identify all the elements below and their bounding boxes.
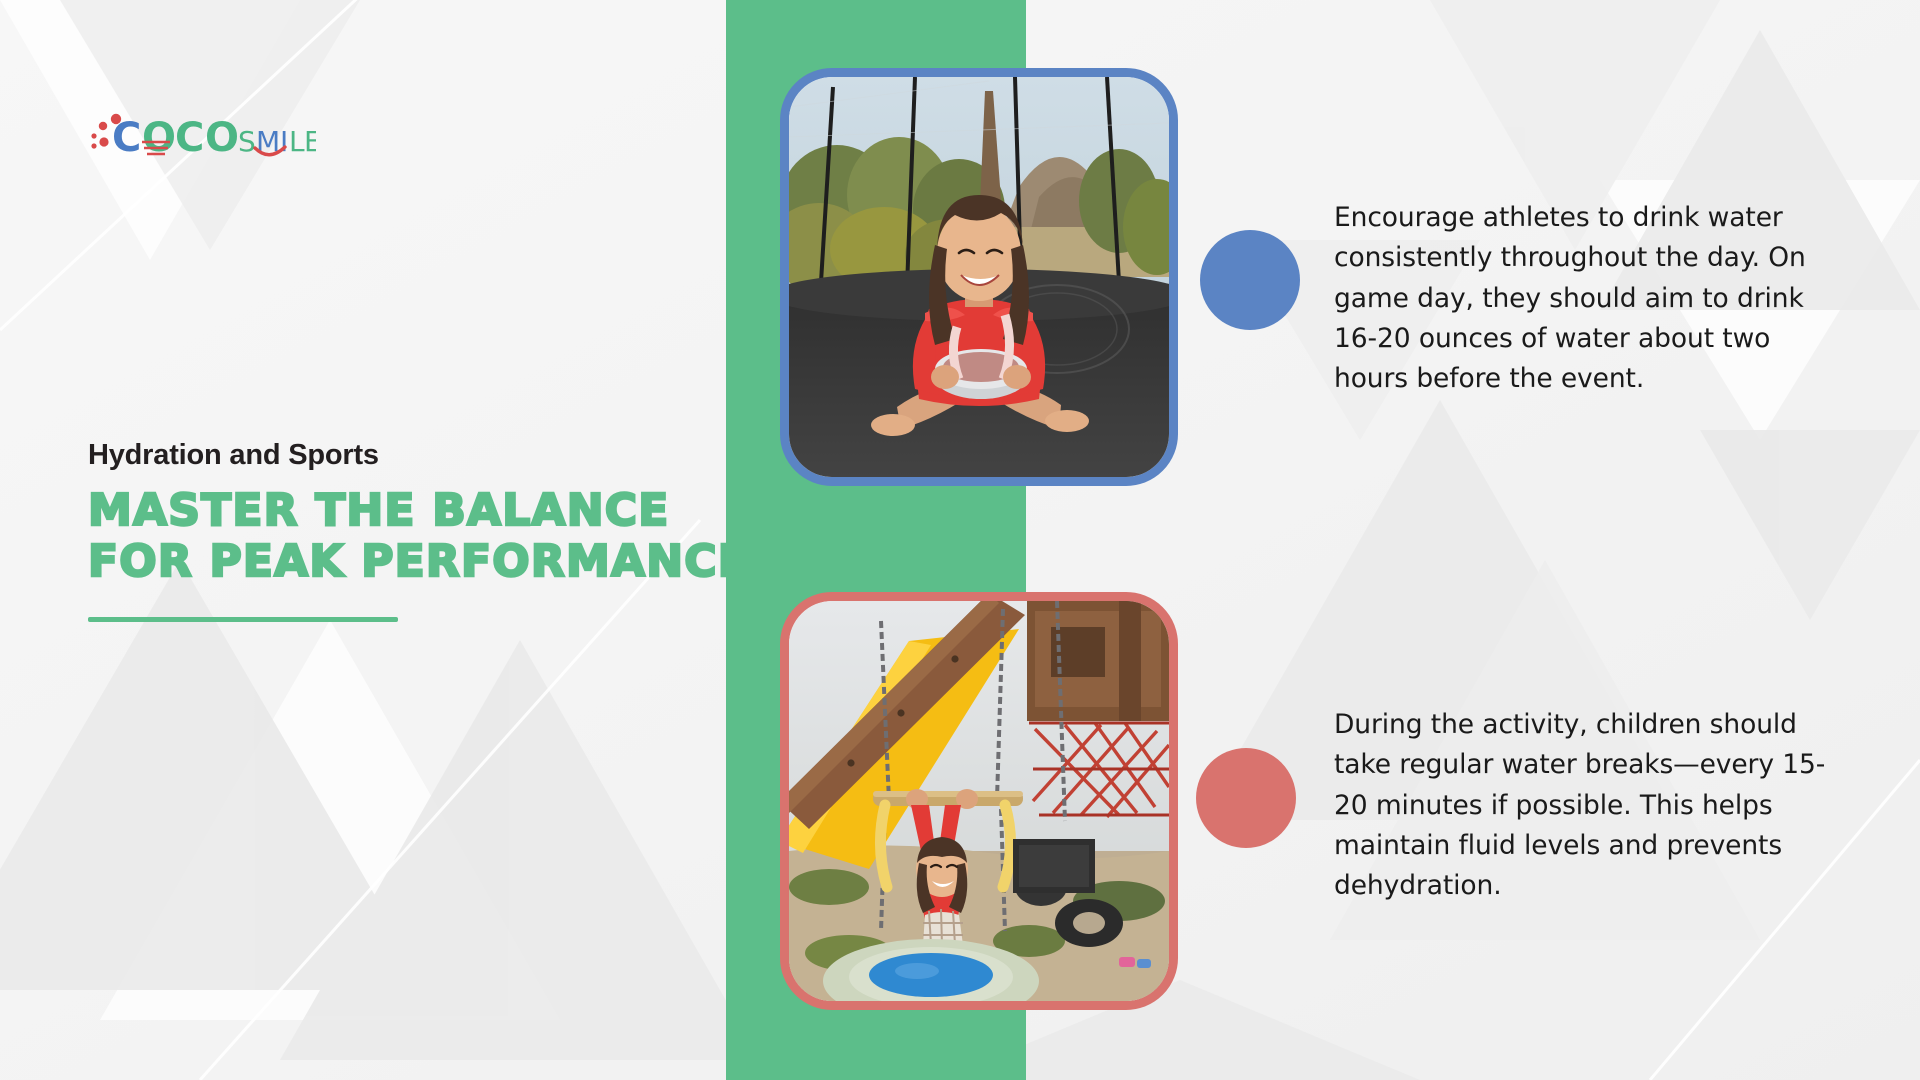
svg-text:C: C	[175, 115, 204, 158]
logo-dot-small	[91, 133, 96, 138]
logo-dot-small	[91, 143, 96, 148]
logo-dot-medium	[99, 137, 108, 146]
svg-text:O: O	[205, 115, 239, 158]
svg-text:E: E	[304, 125, 316, 158]
bullet-dot-salmon	[1196, 748, 1296, 848]
left-column: C O C O S M I L E Hydration and Sports M…	[0, 0, 726, 1080]
svg-text:O: O	[142, 115, 176, 158]
display-title-line-2: For Peak Performance	[88, 536, 708, 587]
photo-2-image	[789, 601, 1169, 1001]
svg-text:I: I	[280, 125, 288, 158]
title-underline-rule	[88, 617, 398, 622]
logo-dot-medium	[99, 122, 107, 130]
eyebrow-heading: Hydration and Sports	[88, 438, 708, 473]
headline-block: Hydration and Sports Master the Balance …	[88, 438, 708, 622]
display-title-line-1: Master the Balance	[88, 485, 708, 536]
photo-card-trampoline[interactable]	[780, 68, 1178, 486]
body-text-hydration-during: During the activity, children should tak…	[1334, 705, 1834, 906]
bullet-dot-blue	[1200, 230, 1300, 330]
cocosmile-logo[interactable]: C O C O S M I L E	[86, 108, 316, 156]
body-text-hydration-before: Encourage athletes to drink water consis…	[1334, 198, 1834, 399]
photo-card-playground[interactable]	[780, 592, 1178, 1010]
svg-text:L: L	[289, 125, 305, 158]
logo-mark: C O C O S M I L E	[86, 106, 316, 158]
svg-text:S: S	[238, 125, 256, 158]
svg-text:C: C	[112, 115, 141, 158]
photo-1-image	[789, 77, 1169, 477]
display-title: Master the Balance For Peak Performance	[88, 485, 708, 587]
